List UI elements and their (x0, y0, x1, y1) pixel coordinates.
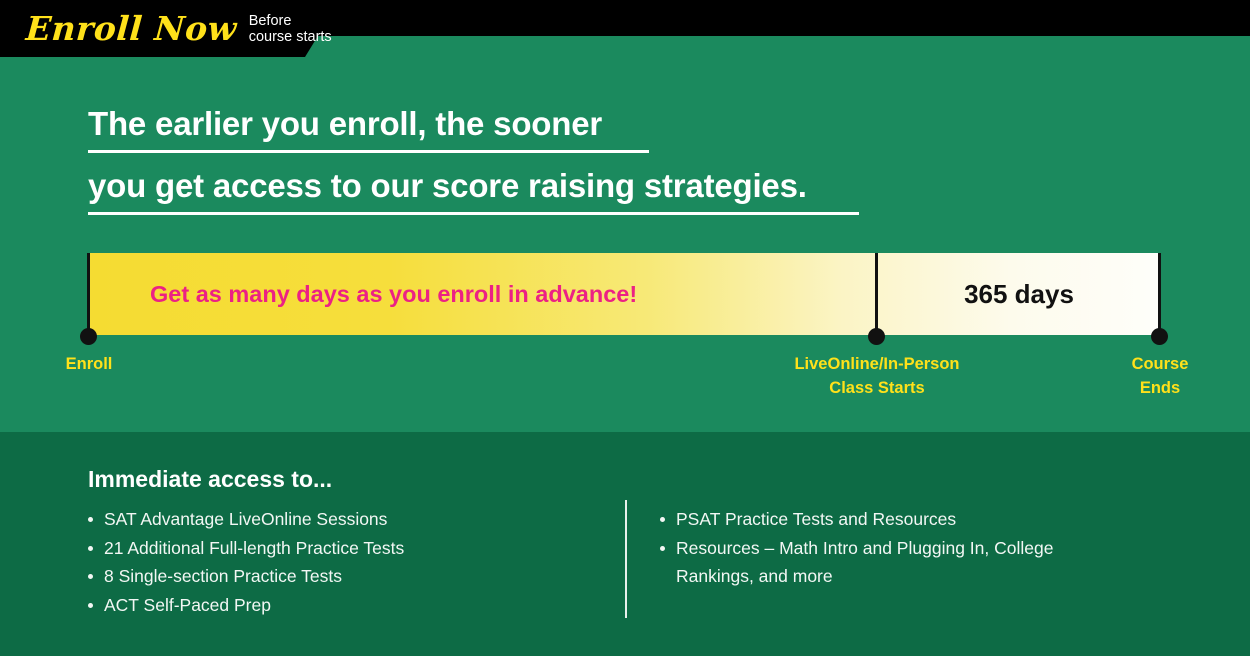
timeline-days-text: 365 days (878, 276, 1160, 312)
list-item-label: ACT Self-Paced Prep (104, 591, 608, 620)
list-item: SAT Advantage LiveOnline Sessions (88, 505, 608, 534)
list-item: PSAT Practice Tests and Resources (660, 505, 1130, 534)
tick-label-end-line2: Ends (1090, 376, 1230, 400)
tick-dot-enroll (80, 328, 97, 345)
bullet-dot-icon (88, 574, 93, 579)
list-item: Resources – Math Intro and Plugging In, … (660, 534, 1130, 591)
timeline-advance-text: Get as many days as you enroll in advanc… (150, 278, 637, 310)
tick-label-class-line2: Class Starts (757, 376, 997, 400)
tick-label-class-starts: LiveOnline/In-Person Class Starts (757, 352, 997, 400)
tick-label-course-ends: Course Ends (1090, 352, 1230, 400)
tick-dot-course-ends (1151, 328, 1168, 345)
list-item: 21 Additional Full-length Practice Tests (88, 534, 608, 563)
list-item: 8 Single-section Practice Tests (88, 562, 608, 591)
bullet-dot-icon (88, 546, 93, 551)
list-item-label: SAT Advantage LiveOnline Sessions (104, 505, 608, 534)
list-item-label: Resources – Math Intro and Plugging In, … (676, 534, 1130, 591)
tick-dot-class-starts (868, 328, 885, 345)
tick-line-class-starts (875, 253, 878, 336)
tick-line-enroll (87, 253, 90, 336)
tick-label-enroll-line1: Enroll (16, 352, 162, 376)
bullet-dot-icon (88, 603, 93, 608)
tick-line-course-ends (1158, 253, 1161, 336)
list-item-label: 21 Additional Full-length Practice Tests (104, 534, 608, 563)
banner-subtitle-line2: course starts (249, 29, 332, 45)
tick-label-end-line1: Course (1090, 352, 1230, 376)
column-divider (625, 500, 627, 618)
access-list-right: PSAT Practice Tests and ResourcesResourc… (660, 505, 1130, 591)
bullet-dot-icon (660, 546, 665, 551)
bullet-dot-icon (88, 517, 93, 522)
bullet-dot-icon (660, 517, 665, 522)
tick-label-class-line1: LiveOnline/In-Person (757, 352, 997, 376)
list-item: ACT Self-Paced Prep (88, 591, 608, 620)
list-item-label: 8 Single-section Practice Tests (104, 562, 608, 591)
access-list-left: SAT Advantage LiveOnline Sessions21 Addi… (88, 505, 608, 619)
immediate-access-title: Immediate access to... (88, 464, 332, 494)
tick-label-enroll: Enroll (16, 352, 162, 376)
timeline: Get as many days as you enroll in advanc… (0, 0, 1250, 432)
banner-subtitle: Before course starts (249, 13, 332, 45)
brand-block: Enroll Now Before course starts (0, 0, 340, 57)
banner-subtitle-line1: Before (249, 13, 332, 29)
list-item-label: PSAT Practice Tests and Resources (676, 505, 1130, 534)
enroll-now-logo: Enroll Now (25, 12, 238, 45)
